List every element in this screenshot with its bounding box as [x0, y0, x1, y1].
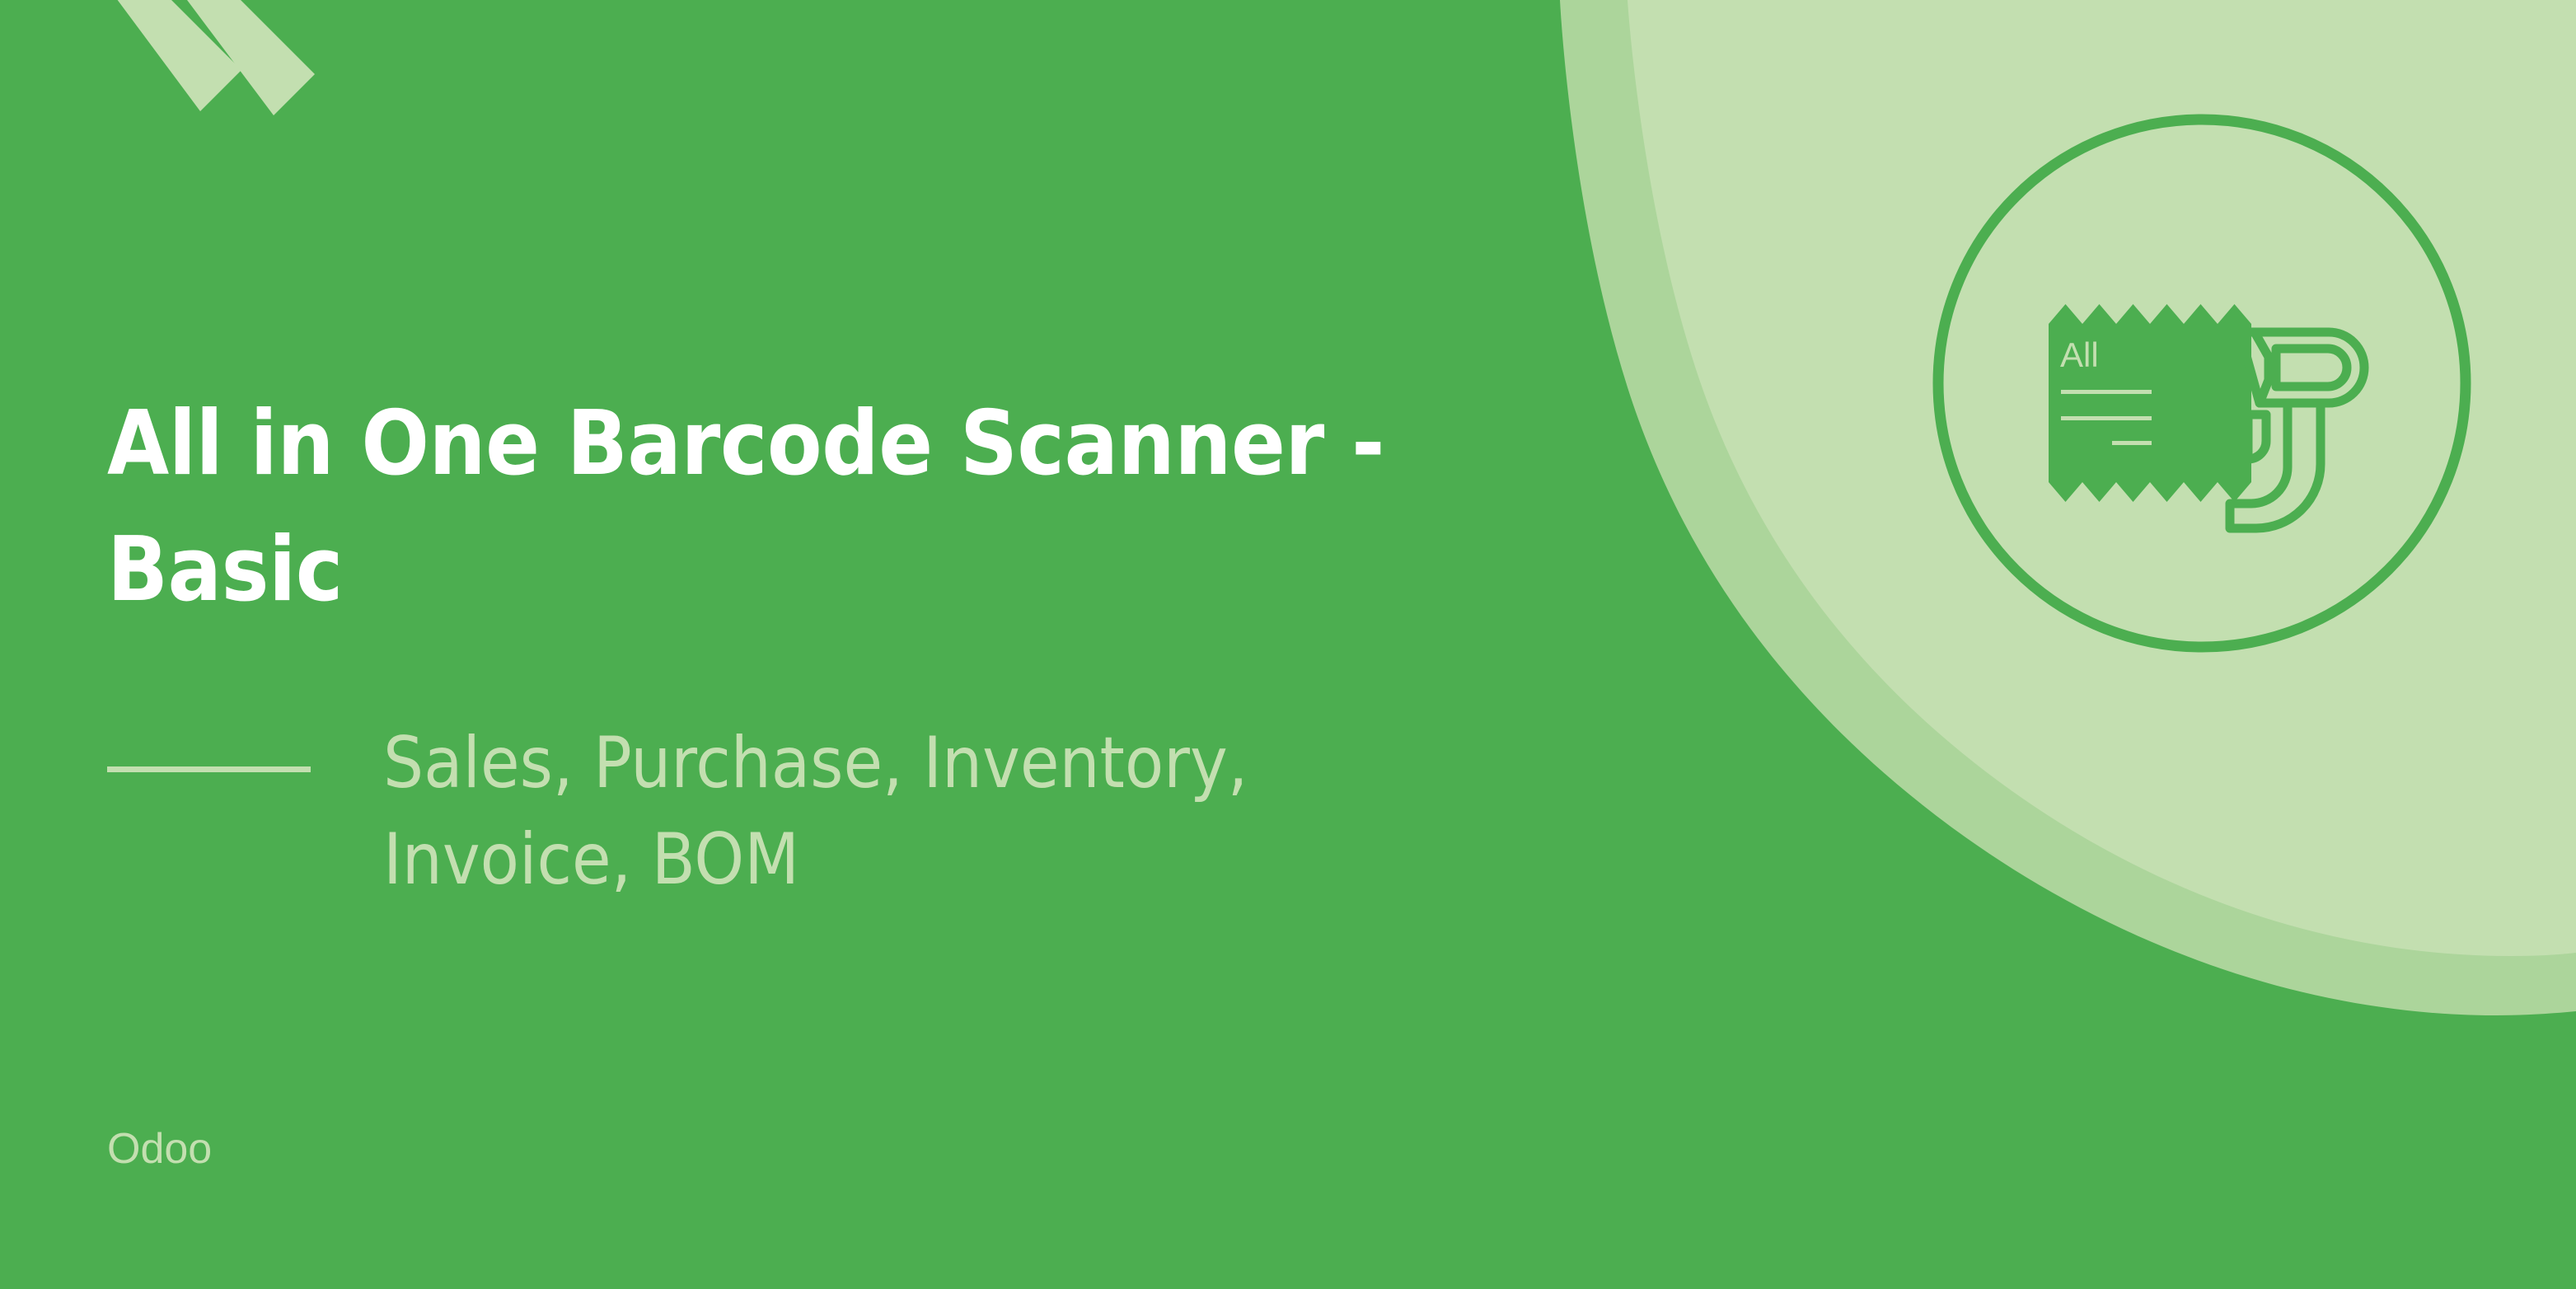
text-content: All in One Barcode Scanner - Basic Sales… — [107, 0, 1755, 1289]
receipt-line-1 — [2061, 390, 2152, 394]
barcode-scanner-badge-icon: All — [1927, 108, 2477, 659]
receipt-line-3 — [2112, 441, 2152, 445]
receipt-label: All — [2060, 335, 2099, 374]
brand-label: Odoo — [107, 1127, 212, 1170]
barcode-scanner-gun-icon — [2230, 332, 2364, 528]
page-subtitle: Sales, Purchase, Inventory, Invoice, BOM — [383, 715, 1248, 908]
receipt-icon: All — [2049, 304, 2251, 502]
subtitle-row: Sales, Purchase, Inventory, Invoice, BOM — [107, 715, 1722, 908]
banner-root: All — [0, 0, 2576, 1289]
receipt-line-2 — [2061, 416, 2152, 420]
subtitle-dash-icon — [107, 766, 311, 772]
page-title: All in One Barcode Scanner - Basic — [107, 381, 1393, 634]
